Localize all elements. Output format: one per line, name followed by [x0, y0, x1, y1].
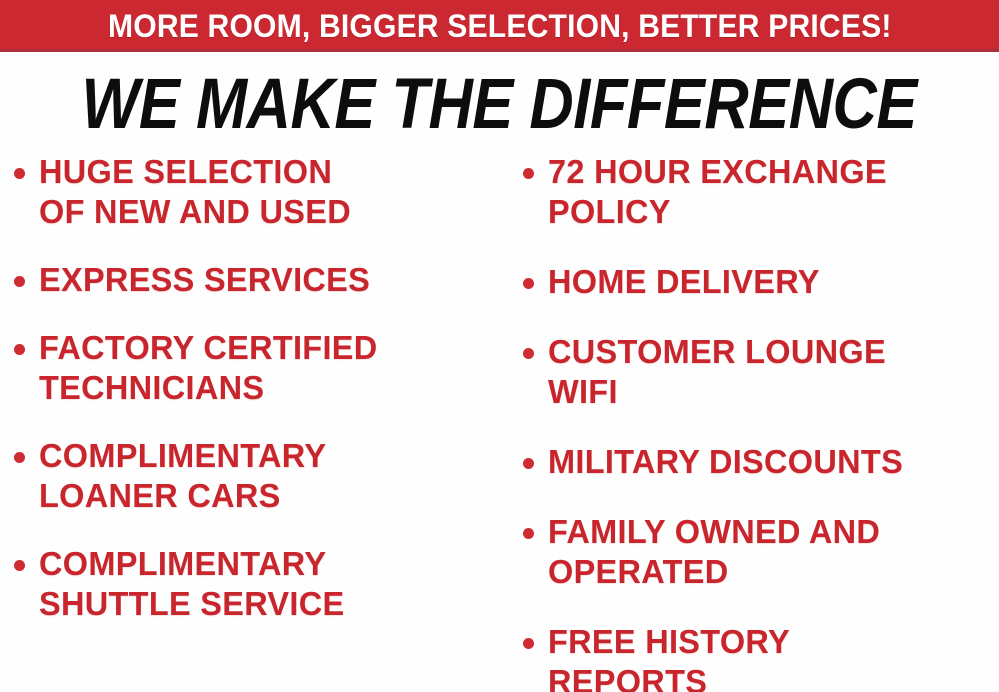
list-item: 72 HOUR EXCHANGE POLICY [523, 152, 999, 232]
list-item-label: 72 HOUR EXCHANGE POLICY [548, 152, 887, 232]
bullet-dot-icon [14, 452, 25, 463]
top-banner: MORE ROOM, BIGGER SELECTION, BETTER PRIC… [0, 0, 999, 52]
list-item-label: CUSTOMER LOUNGE WIFI [548, 332, 886, 412]
bullet-dot-icon [523, 278, 534, 289]
list-item-label: COMPLIMENTARY LOANER CARS [39, 436, 326, 516]
bullet-dot-icon [523, 458, 534, 469]
list-item: FAMILY OWNED AND OPERATED [523, 512, 999, 592]
bullet-dot-icon [14, 344, 25, 355]
bullet-dot-icon [523, 348, 534, 359]
bullet-dot-icon [523, 528, 534, 539]
list-item: HUGE SELECTION OF NEW AND USED [14, 152, 505, 232]
list-item-label: HOME DELIVERY [548, 262, 820, 302]
promotional-poster: MORE ROOM, BIGGER SELECTION, BETTER PRIC… [0, 0, 999, 692]
bullet-dot-icon [14, 168, 25, 179]
list-item-label: EXPRESS SERVICES [39, 260, 370, 300]
bullet-dot-icon [14, 560, 25, 571]
list-item: FACTORY CERTIFIED TECHNICIANS [14, 328, 505, 408]
list-item-label: HUGE SELECTION OF NEW AND USED [39, 152, 351, 232]
list-item: EXPRESS SERVICES [14, 260, 505, 300]
top-banner-text: MORE ROOM, BIGGER SELECTION, BETTER PRIC… [108, 10, 892, 42]
list-item-label: FAMILY OWNED AND OPERATED [548, 512, 880, 592]
features-column-right: 72 HOUR EXCHANGE POLICY HOME DELIVERY CU… [505, 152, 999, 692]
list-item: MILITARY DISCOUNTS [523, 442, 999, 482]
list-item: HOME DELIVERY [523, 262, 999, 302]
list-item: CUSTOMER LOUNGE WIFI [523, 332, 999, 412]
bullet-dot-icon [14, 276, 25, 287]
list-item: COMPLIMENTARY LOANER CARS [14, 436, 505, 516]
list-item: FREE HISTORY REPORTS [523, 622, 999, 692]
list-item: COMPLIMENTARY SHUTTLE SERVICE [14, 544, 505, 624]
features-columns: HUGE SELECTION OF NEW AND USED EXPRESS S… [0, 152, 999, 692]
bullet-dot-icon [523, 638, 534, 649]
bullet-dot-icon [523, 168, 534, 179]
page-title: WE MAKE THE DIFFERENCE [82, 67, 917, 138]
list-item-label: MILITARY DISCOUNTS [548, 442, 903, 482]
list-item-label: FACTORY CERTIFIED TECHNICIANS [39, 328, 378, 408]
list-item-label: FREE HISTORY REPORTS [548, 622, 790, 692]
headline-container: WE MAKE THE DIFFERENCE [0, 64, 999, 142]
list-item-label: COMPLIMENTARY SHUTTLE SERVICE [39, 544, 344, 624]
features-column-left: HUGE SELECTION OF NEW AND USED EXPRESS S… [0, 152, 505, 652]
